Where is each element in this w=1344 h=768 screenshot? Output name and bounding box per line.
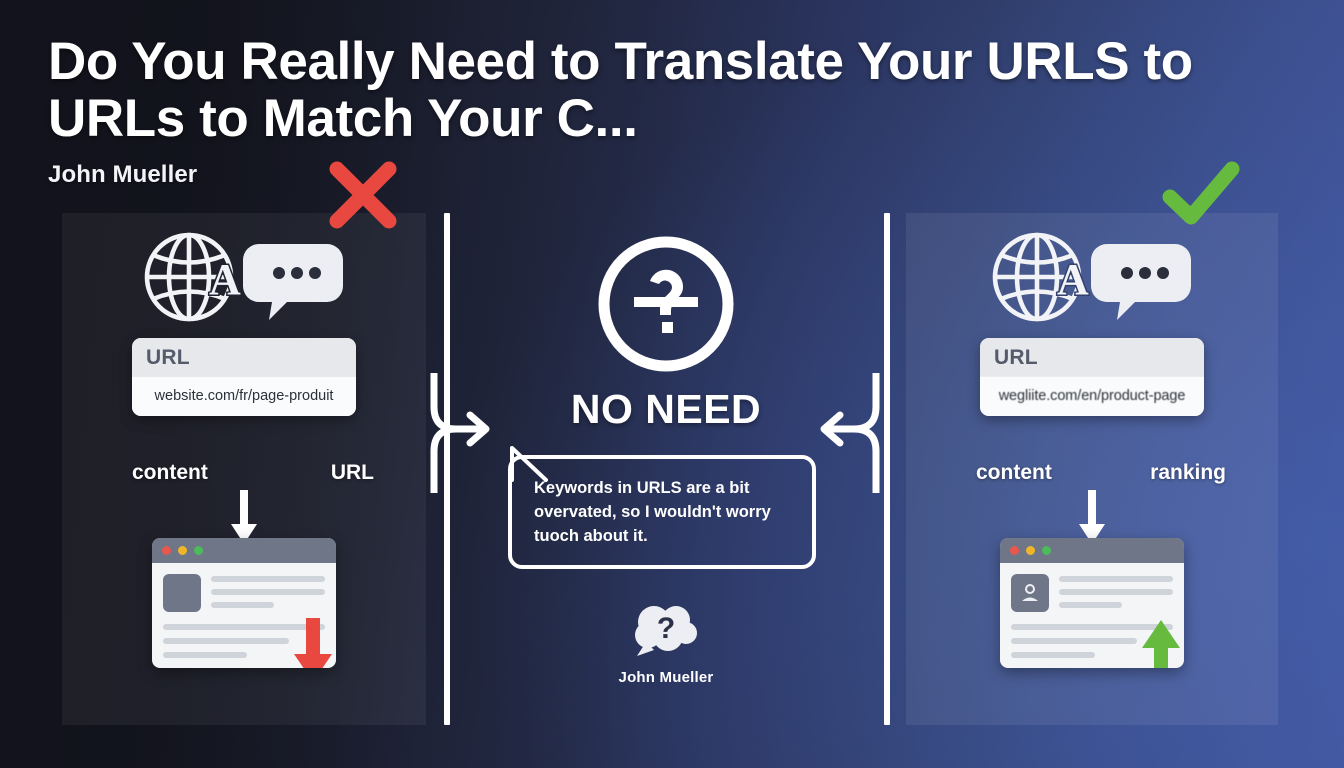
quote-text: Keywords in URLS are a bit overvated, so… xyxy=(534,477,792,549)
divider-right xyxy=(884,213,890,725)
quote-bubble: Keywords in URLS are a bit overvated, so… xyxy=(508,455,816,569)
thought-bubble-question-icon: ? xyxy=(630,602,702,662)
green-check-icon xyxy=(1160,155,1242,235)
globe-language-icon: A xyxy=(987,232,1197,322)
speech-bubble-dots-icon xyxy=(243,244,343,320)
speech-bubble-dots-icon xyxy=(1091,244,1191,320)
page-subtitle: John Mueller xyxy=(48,161,1328,189)
arrow-left-curve-icon xyxy=(810,373,882,493)
attribution-name: John Mueller xyxy=(450,669,882,686)
globe-language-icon: A xyxy=(139,232,349,322)
right-label-ranking: ranking xyxy=(1150,461,1226,485)
left-panel: A URL website.com/fr/page-produit conten… xyxy=(62,213,426,725)
window-maximize-dot xyxy=(1042,546,1051,555)
browser-titlebar xyxy=(1000,538,1184,563)
attribution-block: ? John Mueller xyxy=(450,602,882,686)
center-panel: NO NEED Keywords in URLS are a bit overv… xyxy=(450,213,882,725)
browser-titlebar xyxy=(152,538,336,563)
left-globe-group: A xyxy=(139,232,349,322)
svg-text:A: A xyxy=(209,255,241,304)
window-minimize-dot xyxy=(1026,546,1035,555)
browser-content xyxy=(1000,563,1184,658)
url-value: wegliite.com/en/product-page xyxy=(980,377,1204,416)
right-url-card[interactable]: URL wegliite.com/en/product-page xyxy=(980,338,1204,416)
right-label-content: content xyxy=(976,461,1052,485)
left-url-card[interactable]: URL website.com/fr/page-produit xyxy=(132,338,356,416)
right-panel: A URL wegliite.com/en/product-page conte… xyxy=(906,213,1278,725)
green-arrow-up-icon xyxy=(1140,618,1182,668)
left-label-content: content xyxy=(132,461,208,485)
right-browser-mockup xyxy=(1000,538,1184,668)
page-title: Do You Really Need to Translate Your URL… xyxy=(48,34,1328,147)
url-card-label: URL xyxy=(132,338,356,377)
svg-text:?: ? xyxy=(657,612,675,645)
window-close-dot xyxy=(162,546,171,555)
url-card-label: URL xyxy=(980,338,1204,377)
browser-content xyxy=(152,563,336,658)
image-placeholder-icon xyxy=(163,574,201,612)
url-value: website.com/fr/page-produit xyxy=(132,377,356,416)
window-minimize-dot xyxy=(178,546,187,555)
red-arrow-down-icon xyxy=(292,618,334,668)
svg-text:A: A xyxy=(1057,255,1089,304)
question-divide-circle-icon xyxy=(593,231,739,377)
user-profile-icon xyxy=(1011,574,1049,612)
left-browser-mockup xyxy=(152,538,336,668)
arrow-right-curve-icon xyxy=(428,373,500,493)
right-globe-group: A xyxy=(987,232,1197,322)
window-close-dot xyxy=(1010,546,1019,555)
left-label-url: URL xyxy=(331,461,374,485)
window-maximize-dot xyxy=(194,546,203,555)
header: Do You Really Need to Translate Your URL… xyxy=(48,34,1328,189)
red-cross-icon xyxy=(323,155,403,235)
